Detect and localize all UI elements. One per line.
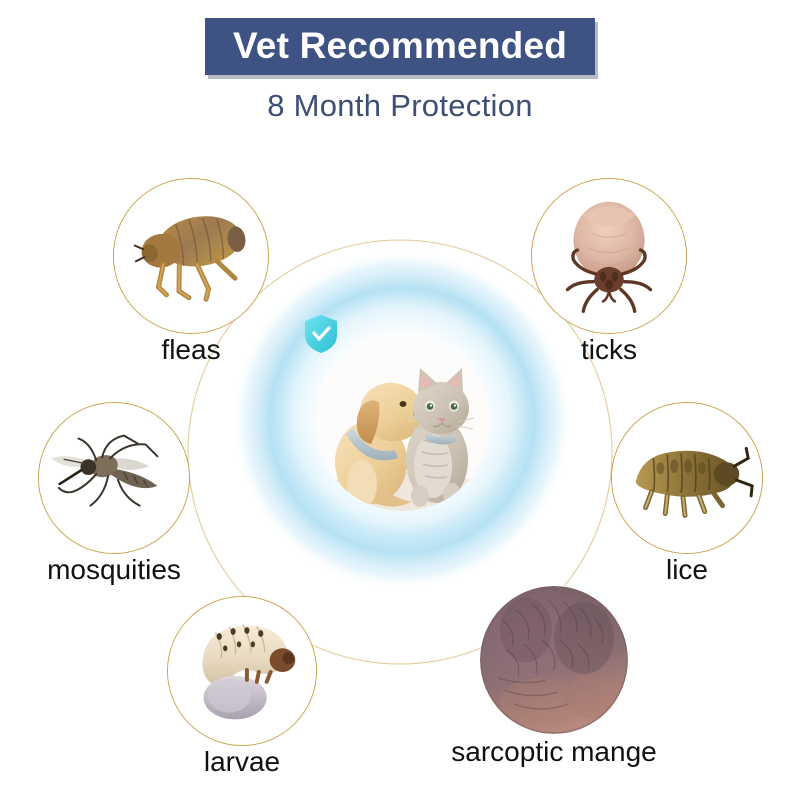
louse-icon <box>611 402 763 554</box>
node-label-fleas: fleas <box>41 334 341 366</box>
protection-subtitle: 8 Month Protection <box>0 88 800 124</box>
node-label-larvae: larvae <box>92 746 392 778</box>
mange-skin-icon <box>480 586 628 734</box>
mosquito-icon <box>38 402 190 554</box>
tick-icon <box>531 178 687 334</box>
flea-icon <box>113 178 269 334</box>
header: Vet Recommended 8 Month Protection <box>0 0 800 124</box>
node-label-mosquities: mosquities <box>0 554 264 586</box>
larva-icon <box>167 596 317 746</box>
vet-recommended-banner: Vet Recommended <box>205 18 595 75</box>
center-hero <box>230 248 574 592</box>
infographic-root: Vet Recommended 8 Month Protection <box>0 0 800 800</box>
node-label-lice: lice <box>537 554 800 586</box>
node-label-sarcoptic-mange: sarcoptic mange <box>404 736 704 768</box>
node-label-ticks: ticks <box>459 334 759 366</box>
